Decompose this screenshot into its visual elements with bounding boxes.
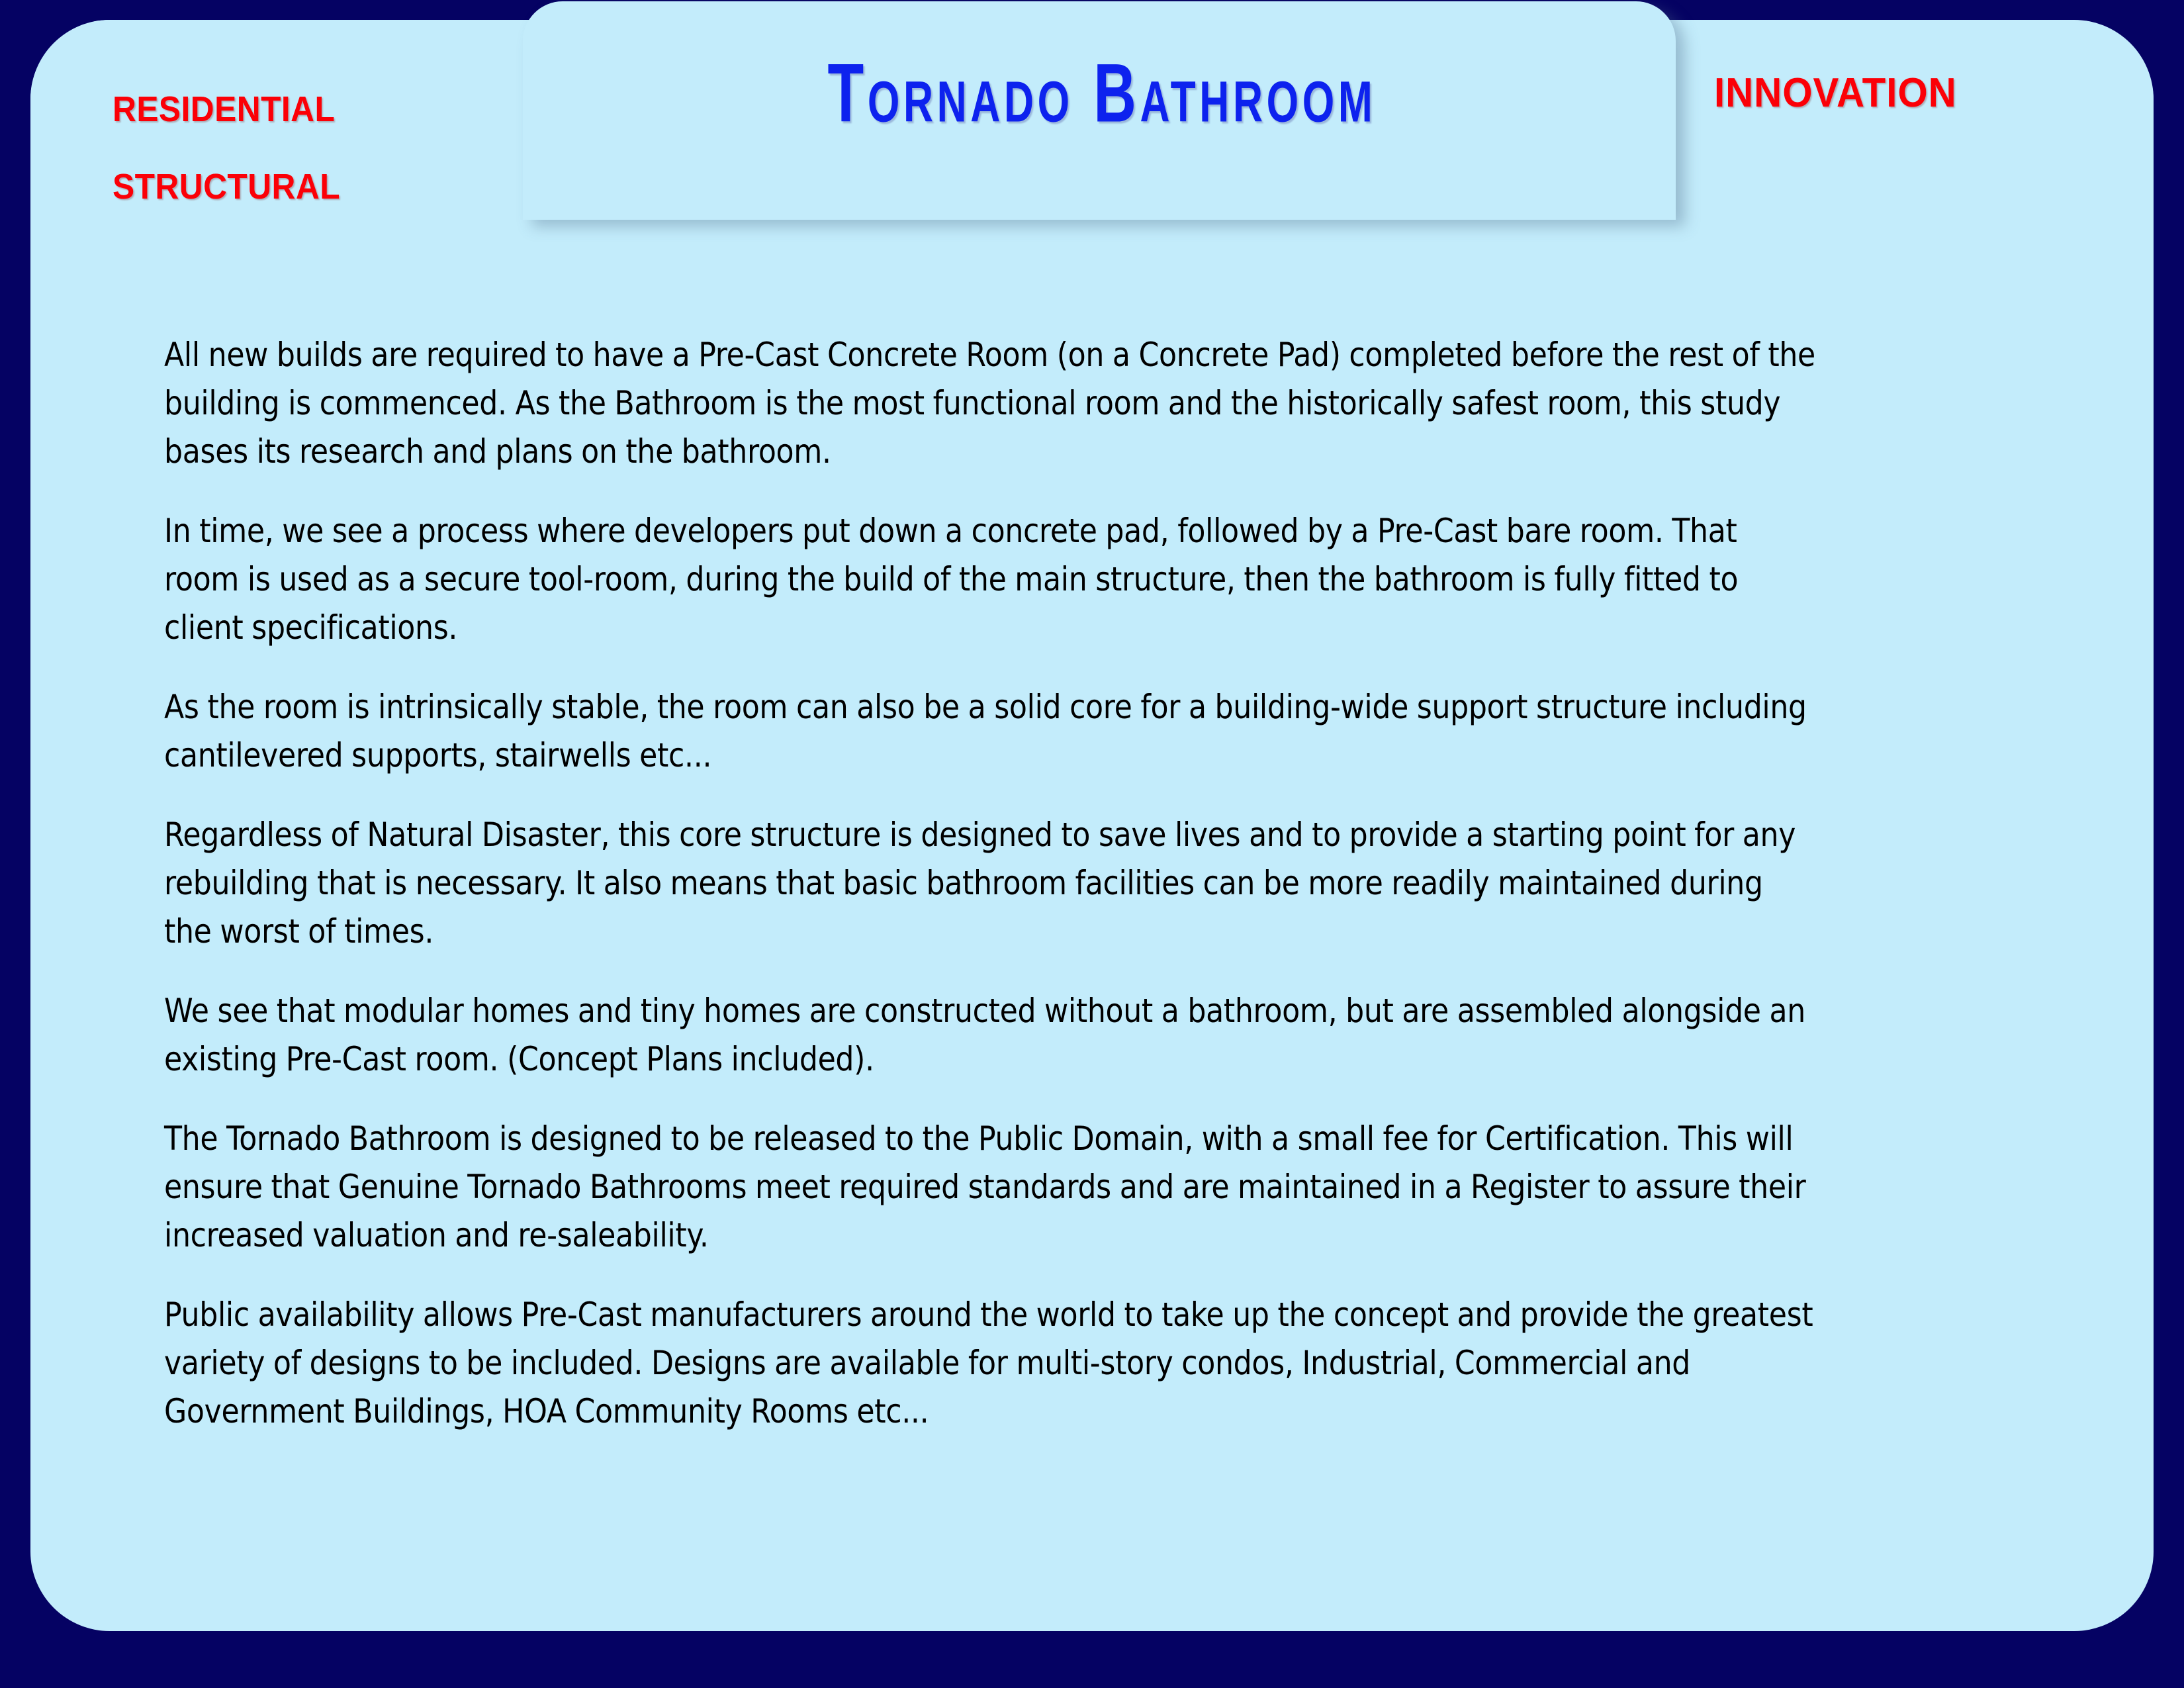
body-paragraph: We see that modular homes and tiny homes… — [164, 987, 1816, 1084]
body-paragraph: The Tornado Bathroom is designed to be r… — [164, 1115, 1816, 1260]
header-innovation-badge: INNOVATION — [1714, 73, 1957, 114]
page-title: Tornado Bathroom — [676, 52, 1528, 134]
slide-root: RESIDENTIAL STRUCTURAL Tornado Bathroom … — [0, 0, 2184, 1688]
kicker-line-structural: STRUCTURAL — [113, 167, 340, 206]
body-paragraph: In time, we see a process where develope… — [164, 507, 1816, 652]
body-paragraph: All new builds are required to have a Pr… — [164, 331, 1816, 476]
header-kicker: RESIDENTIAL STRUCTURAL — [113, 52, 340, 245]
body-copy: All new builds are required to have a Pr… — [164, 331, 1816, 1436]
header-right-tab — [1641, 21, 2154, 220]
body-paragraph: Public availability allows Pre-Cast manu… — [164, 1291, 1816, 1436]
body-paragraph: Regardless of Natural Disaster, this cor… — [164, 811, 1816, 956]
body-paragraph: As the room is intrinsically stable, the… — [164, 683, 1816, 780]
kicker-line-residential: RESIDENTIAL — [113, 90, 340, 128]
